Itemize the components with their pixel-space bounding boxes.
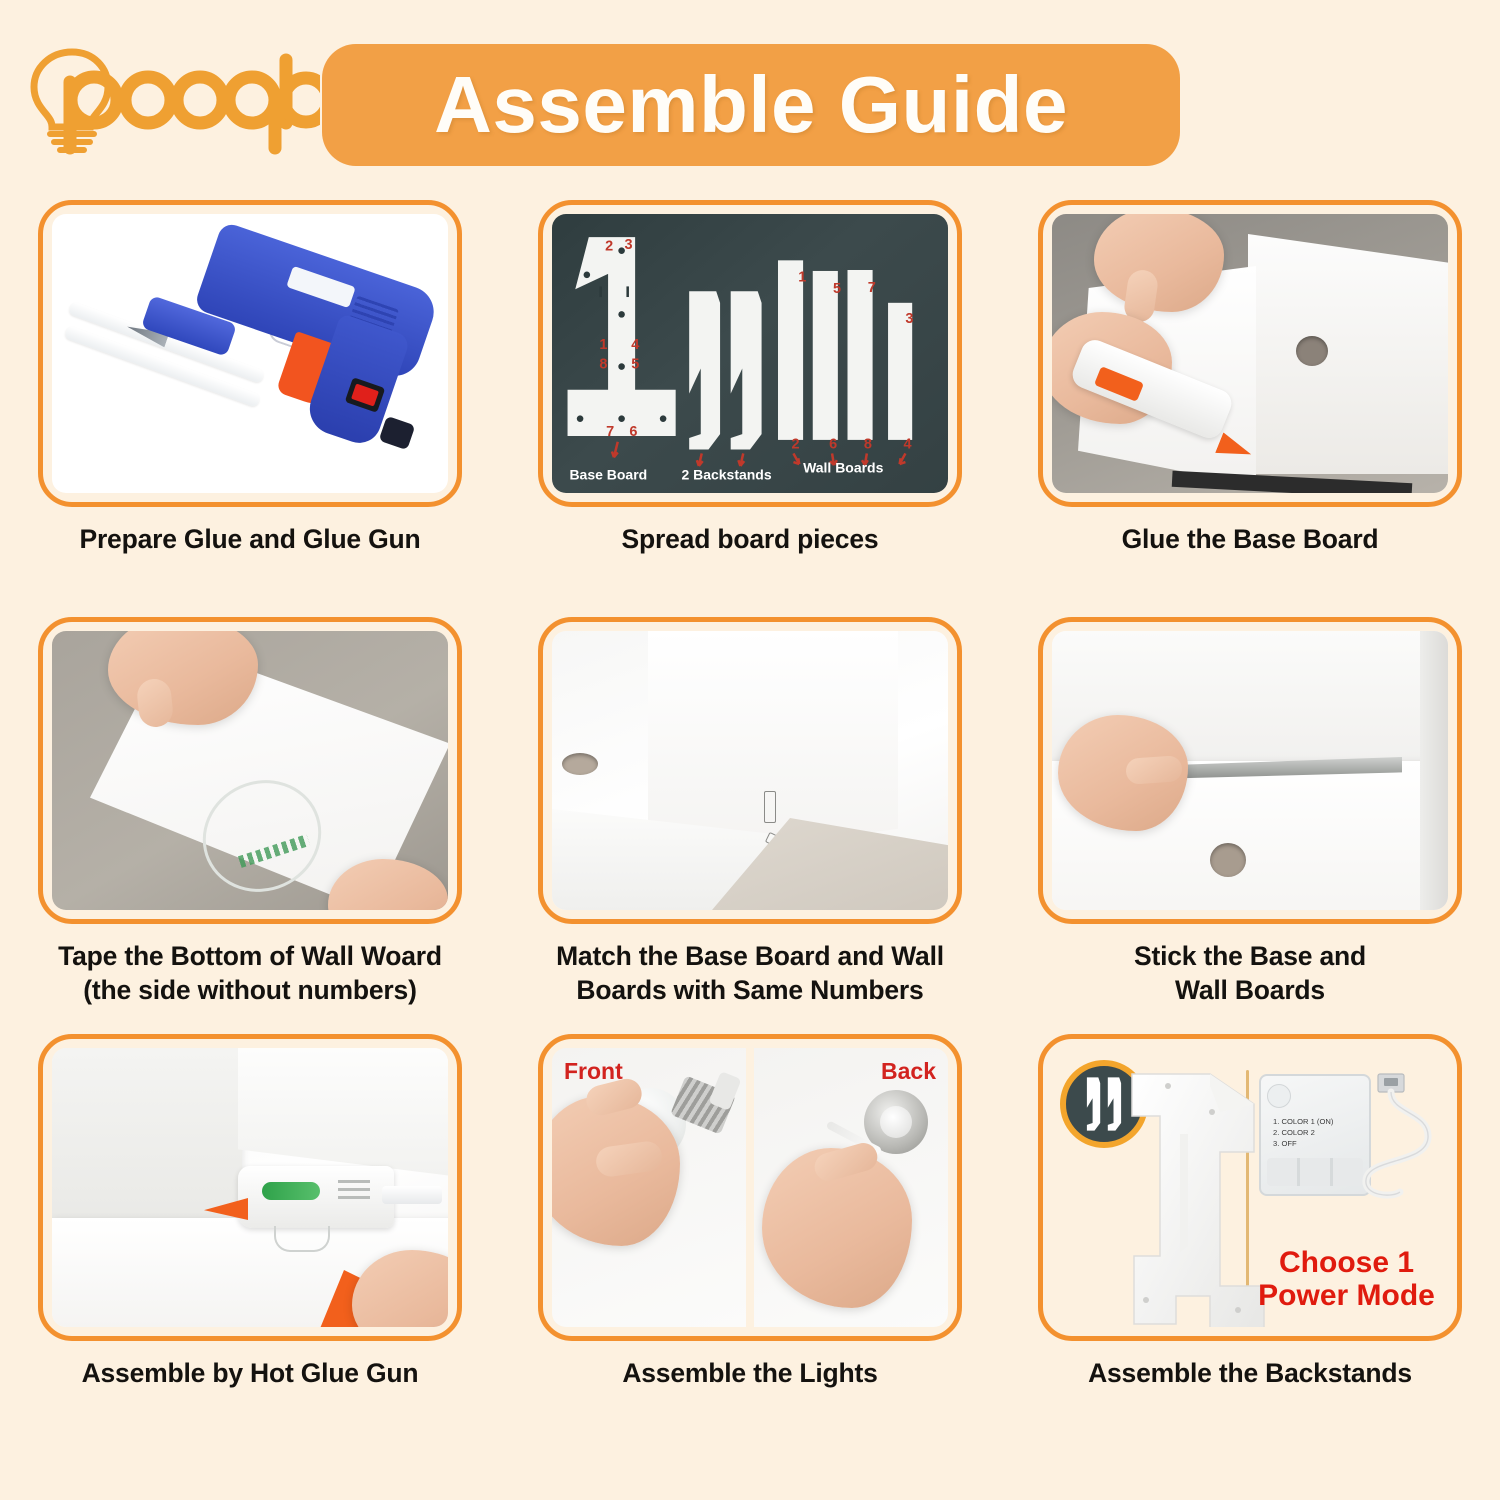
svg-text:7: 7 <box>868 280 876 296</box>
glue-stick-icon <box>382 1186 442 1204</box>
step-panel-8: Front Back <box>538 1034 962 1341</box>
svg-text:2 Backstands: 2 Backstands <box>681 466 771 482</box>
back-label: Back <box>881 1058 936 1085</box>
number-marking-wall <box>764 791 776 823</box>
glue-gun-green-label-icon <box>262 1182 320 1200</box>
step-panel-7 <box>38 1034 462 1341</box>
match-numbers-photo <box>552 631 948 910</box>
step-cell-2: 2 3 1 8 4 5 7 6 <box>500 200 1000 617</box>
step-caption: Tape the Bottom of Wall Woard (the side … <box>58 940 442 1008</box>
glue-base-board-photo <box>1052 214 1448 493</box>
front-view: Front <box>552 1048 746 1327</box>
mode-option: 3. OFF <box>1273 1138 1333 1149</box>
step-caption: Match the Base Board and Wall Boards wit… <box>556 940 944 1008</box>
photo-scene <box>52 631 448 910</box>
step-cell-6: Stick the Base and Wall Boards <box>1000 617 1500 1034</box>
photo-scene <box>52 1048 448 1327</box>
step-caption: Assemble the Lights <box>622 1357 877 1391</box>
step-panel-6 <box>1038 617 1462 924</box>
step-panel-1 <box>38 200 462 507</box>
photo-scene <box>1052 214 1448 493</box>
svg-text:Base Board: Base Board <box>569 466 647 482</box>
back-view: Back <box>754 1048 948 1327</box>
step-caption: Prepare Glue and Glue Gun <box>79 523 420 557</box>
step-caption: Assemble by Hot Glue Gun <box>82 1357 419 1391</box>
stick-boards-photo <box>1052 631 1448 910</box>
glue-gun-vents-icon <box>338 1180 370 1204</box>
step-caption: Glue the Base Board <box>1122 523 1379 557</box>
pooqla-logo <box>10 38 320 156</box>
step-cell-5: Match the Base Board and Wall Boards wit… <box>500 617 1000 1034</box>
title-banner: Assemble Guide <box>322 44 1180 166</box>
step-caption: Spread board pieces <box>622 523 879 557</box>
tape-wall-board-photo <box>52 631 448 910</box>
step-panel-4 <box>38 617 462 924</box>
svg-text:8: 8 <box>599 356 607 372</box>
backstand-section <box>1052 1048 1246 1327</box>
photo-scene <box>1052 631 1448 910</box>
svg-text:6: 6 <box>829 437 837 453</box>
wall-board-right <box>1248 224 1448 474</box>
glue-gun-cap-icon <box>379 416 416 450</box>
power-section: 1. COLOR 1 (ON) 2. COLOR 2 3. OFF <box>1249 1048 1448 1327</box>
choose-power-mode-text: Choose 1 Power Mode <box>1249 1246 1444 1313</box>
svg-text:1: 1 <box>599 337 607 353</box>
mode-option: 1. COLOR 1 (ON) <box>1273 1116 1333 1127</box>
step-cell-8: Front Back <box>500 1034 1000 1464</box>
mounting-hole <box>1296 336 1328 366</box>
svg-text:4: 4 <box>631 337 639 353</box>
board-pieces-diagram: 2 3 1 8 4 5 7 6 <box>552 214 948 493</box>
step-panel-5 <box>538 617 962 924</box>
left-wall-board <box>52 1048 242 1228</box>
photo-scene <box>552 631 948 910</box>
svg-text:6: 6 <box>629 424 637 440</box>
mounting-hole <box>562 753 598 775</box>
assemble-guide-page: Assemble Guide <box>0 0 1500 1500</box>
glue-gun-photo <box>52 214 448 493</box>
svg-text:5: 5 <box>833 281 841 297</box>
svg-text:2: 2 <box>605 239 613 255</box>
step-cell-1: Prepare Glue and Glue Gun <box>0 200 500 617</box>
glue-gun-wire-icon <box>274 1226 330 1252</box>
step-cell-9: 1. COLOR 1 (ON) 2. COLOR 2 3. OFF <box>1000 1034 1500 1464</box>
right-wall-edge <box>1420 631 1448 910</box>
svg-text:Wall Boards: Wall Boards <box>803 460 884 476</box>
svg-text:4: 4 <box>903 437 911 453</box>
usb-cable-icon <box>1344 1072 1440 1202</box>
lights-split-view: Front Back <box>552 1048 948 1327</box>
step-caption: Stick the Base and Wall Boards <box>1134 940 1366 1008</box>
page-header: Assemble Guide <box>0 0 1500 200</box>
steps-grid: Prepare Glue and Glue Gun <box>0 200 1500 1500</box>
svg-text:5: 5 <box>631 356 639 372</box>
svg-text:8: 8 <box>864 437 872 453</box>
step-cell-7: Assemble by Hot Glue Gun <box>0 1034 500 1464</box>
step-cell-4: Tape the Bottom of Wall Woard (the side … <box>0 617 500 1034</box>
svg-text:3: 3 <box>624 237 632 253</box>
page-title: Assemble Guide <box>434 59 1068 151</box>
step-panel-3 <box>1038 200 1462 507</box>
step-panel-9: 1. COLOR 1 (ON) 2. COLOR 2 3. OFF <box>1038 1034 1462 1341</box>
step-cell-3: Glue the Base Board <box>1000 200 1500 617</box>
svg-text:1: 1 <box>798 270 806 286</box>
backstands-power-photo: 1. COLOR 1 (ON) 2. COLOR 2 3. OFF <box>1052 1048 1448 1327</box>
svg-text:3: 3 <box>905 311 913 327</box>
bulb-tip-icon <box>708 1071 741 1111</box>
step-caption: Assemble the Backstands <box>1088 1357 1412 1391</box>
svg-text:2: 2 <box>792 437 800 453</box>
assemble-lights-photo: Front Back <box>552 1048 948 1327</box>
hot-glue-assembly-photo <box>52 1048 448 1327</box>
finger <box>1125 755 1183 785</box>
mode-option: 2. COLOR 2 <box>1273 1127 1333 1138</box>
battery-box-modes: 1. COLOR 1 (ON) 2. COLOR 2 3. OFF <box>1273 1116 1333 1149</box>
mounting-hole <box>1210 843 1246 877</box>
step-panel-2: 2 3 1 8 4 5 7 6 <box>538 200 962 507</box>
svg-text:7: 7 <box>606 424 614 440</box>
